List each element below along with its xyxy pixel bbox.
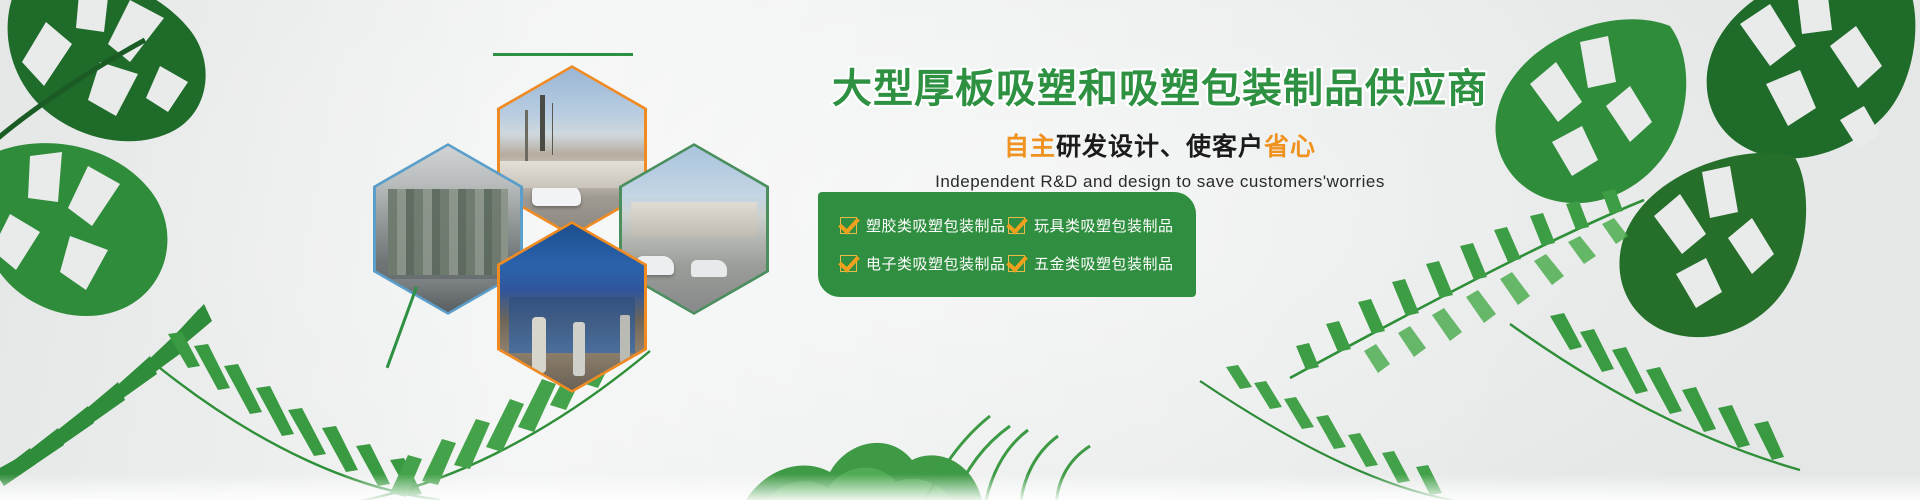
decor-line-horizontal <box>493 53 633 56</box>
product-categories-panel: 塑胶类吸塑包装制品 玩具类吸塑包装制品 电子类吸塑包装制品 五金类吸塑包装制品 <box>818 192 1196 297</box>
subtitle-accent-start: 自主 <box>1004 132 1056 161</box>
feature-item: 玩具类吸塑包装制品 <box>1008 215 1178 236</box>
subtitle-english: Independent R&D and design to save custo… <box>810 172 1510 192</box>
fern-sprig-bottom-right <box>1180 355 1460 500</box>
check-icon <box>1008 255 1025 272</box>
promotional-banner: 大型厚板吸塑和吸塑包装制品供应商 自主研发设计、使客户省心 Independen… <box>0 0 1920 500</box>
photo-hexagon-cluster <box>355 55 785 375</box>
headline-text-block: 大型厚板吸塑和吸塑包装制品供应商 自主研发设计、使客户省心 Independen… <box>810 68 1510 192</box>
grass-tuft-bottom <box>900 390 1120 500</box>
feature-label: 玩具类吸塑包装制品 <box>1034 215 1174 236</box>
feature-label: 五金类吸塑包装制品 <box>1034 253 1174 274</box>
palm-frond-bottom-right <box>1480 300 1810 480</box>
check-icon <box>840 217 857 234</box>
page-title: 大型厚板吸塑和吸塑包装制品供应商 <box>810 68 1510 111</box>
check-icon <box>840 255 857 272</box>
check-icon <box>1008 217 1025 234</box>
feature-item: 五金类吸塑包装制品 <box>1008 253 1178 274</box>
decor-line-diagonal <box>386 286 418 368</box>
subtitle-chinese: 自主研发设计、使客户省心 <box>810 127 1510 163</box>
feature-label: 电子类吸塑包装制品 <box>866 253 1006 274</box>
feature-item: 塑胶类吸塑包装制品 <box>840 215 1008 236</box>
feature-label: 塑胶类吸塑包装制品 <box>866 215 1006 236</box>
subtitle-accent-end: 省心 <box>1264 132 1316 161</box>
subtitle-main: 研发设计、使客户 <box>1056 132 1264 161</box>
feature-item: 电子类吸塑包装制品 <box>840 253 1008 274</box>
